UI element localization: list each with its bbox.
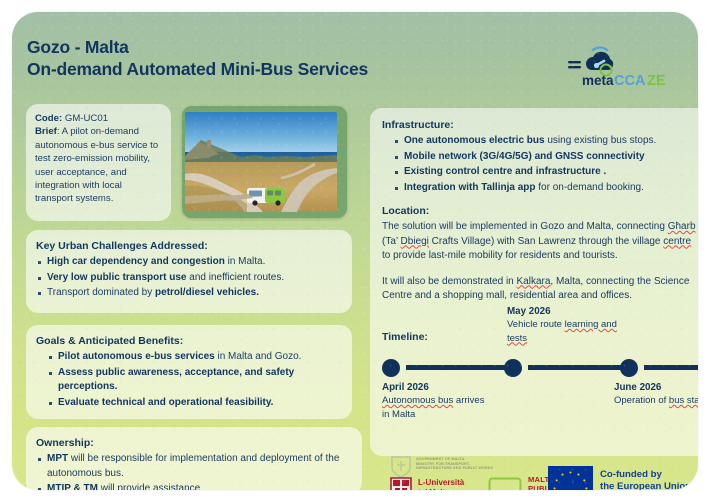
infra-3-bold: Integration with Tallinja app <box>404 182 535 193</box>
poster-canvas: Gozo - Malta On-demand Automated Mini-Bu… <box>0 0 709 502</box>
use-case-card: Gozo - Malta On-demand Automated Mini-Bu… <box>12 12 698 490</box>
goals-title: Goals & Anticipated Benefits: <box>36 334 342 348</box>
brief-label: Brief <box>35 126 57 137</box>
challenges-list: High car dependency and congestion in Ma… <box>36 255 342 301</box>
milestone-2-date: May 2026 <box>507 305 617 319</box>
list-item: Very low public transport use and ineffi… <box>36 271 342 286</box>
title-line-2: On-demand Automated Mini-Bus Services <box>27 58 457 80</box>
location-paragraph-1: The solution will be implemented in Gozo… <box>382 220 698 264</box>
gov-line-3: INFRASTRUCTURE AND PUBLIC WORKS <box>416 466 493 471</box>
university-crest-icon <box>388 476 414 490</box>
owner-0-bold: MPT <box>47 453 68 464</box>
timeline-axis <box>382 359 698 377</box>
brief-text: Code: GM-UC01 Brief: A pilot on-demand a… <box>35 112 162 206</box>
infra-3-rest: for on-demand booking. <box>535 182 643 193</box>
photo-frame <box>182 106 347 218</box>
timeline-label: Timeline: <box>382 331 428 343</box>
milestone-1-desc-mark: Autonomous bus <box>382 395 453 406</box>
eu-funding-text: Co-funded by the European Union <box>600 469 691 490</box>
eu-line-1: Co-funded by <box>600 469 691 481</box>
loc-p1-c: Crafts Village) with San Lawrenz through… <box>429 236 663 247</box>
owner-1-bold: MTIP & TM <box>47 483 98 490</box>
infra-0-rest: using existing bus stops. <box>545 135 657 146</box>
list-item: MPT will be responsible for implementati… <box>36 452 352 481</box>
list-item: Pilot autonomous e-bus services in Malta… <box>36 350 342 365</box>
timeline-dot-1 <box>382 359 400 377</box>
logo-text-cca: CCA <box>614 73 646 88</box>
university-logo-text: L-Università ta’ Malta <box>418 478 464 490</box>
timeline-dot-2 <box>504 359 522 377</box>
challenges-title: Key Urban Challenges Addressed: <box>36 239 342 253</box>
loc-p1-a: The solution will be implemented in Gozo… <box>382 221 668 232</box>
card-header: Gozo - Malta On-demand Automated Mini-Bu… <box>12 12 698 88</box>
title-line-1: Gozo - Malta <box>27 37 129 57</box>
list-item: MTIP & TM will provide assistance. <box>36 482 352 490</box>
loc-p2-mark1: Kalkara <box>517 276 551 287</box>
logo-text-meta: meta <box>582 73 614 88</box>
government-logo-text: GOVERNMENT OF MALTA MINISTRY FOR TRANSPO… <box>416 457 493 471</box>
infra-1-bold: Mobile network (3G/4G/5G) and GNSS conne… <box>404 151 645 162</box>
milestone-1-date: April 2026 <box>382 381 492 395</box>
right-panel: Infrastructure: One autonomous electric … <box>370 108 698 456</box>
code-label: Code: <box>35 113 62 124</box>
loc-p1-d: to provide last-mile mobility for reside… <box>382 250 618 261</box>
timeline-milestone-2: May 2026 Vehicle route learning and test… <box>507 305 617 346</box>
milestone-3-desc-mark: bus starts <box>669 395 698 406</box>
timeline-bar-3 <box>644 365 698 370</box>
infra-2-bold: Existing control centre and infrastructu… <box>404 166 606 177</box>
milestone-3-date: June 2026 <box>614 381 698 395</box>
owner-1-marked: provide assistance <box>117 483 200 490</box>
ownership-list: MPT will be responsible for implementati… <box>36 452 352 490</box>
milestone-2-desc-a: Vehicle route <box>507 319 565 330</box>
bus-icon <box>488 476 522 490</box>
infrastructure-list: One autonomous electric bus using existi… <box>382 134 698 195</box>
loc-p1-mark1: Għarb <box>668 221 696 232</box>
photo-illustration <box>185 112 337 212</box>
eu-line-2: the European Union <box>600 481 691 491</box>
uom-line-2: ta’ Malta <box>418 488 464 490</box>
list-item: One autonomous electric bus using existi… <box>382 134 698 149</box>
footer-logos: GOVERNMENT OF MALTA MINISTRY FOR TRANSPO… <box>370 456 698 490</box>
loc-p2-a: It will also be demonstrated in <box>382 276 517 287</box>
infrastructure-block: Infrastructure: One autonomous electric … <box>382 118 698 195</box>
eu-flag-icon <box>548 466 593 490</box>
eu-funding-logo: Co-funded by the European Union <box>548 466 698 490</box>
list-item: Integration with Tallinja app for on-dem… <box>382 181 698 196</box>
eu-stars <box>548 466 593 490</box>
location-paragraph-2: It will also be demonstrated in Kalkara,… <box>382 275 698 304</box>
brief-panel: Code: GM-UC01 Brief: A pilot on-demand a… <box>26 104 171 221</box>
timeline: Timeline: May 2026 Vehicle route learnin… <box>382 313 698 425</box>
location-title: Location: <box>382 204 698 218</box>
brief-value: : A pilot on-demand autonomous e-bus ser… <box>35 126 158 204</box>
timeline-milestone-3: June 2026 Operation of bus starts <box>614 381 698 408</box>
list-item: Existing control centre and infrastructu… <box>382 165 698 180</box>
goal-0-bold: Pilot autonomous e-bus services <box>58 351 215 362</box>
list-item: Assess public awareness, acceptance, and… <box>36 366 342 395</box>
page-title: Gozo - Malta On-demand Automated Mini-Bu… <box>27 36 457 80</box>
infrastructure-title: Infrastructure: <box>382 118 698 132</box>
challenge-1-rest: and inefficient routes. <box>186 272 284 283</box>
owner-0-rest: will be responsible for implementation a… <box>47 453 339 479</box>
ownership-title: Ownership: <box>36 436 352 450</box>
government-of-malta-logo: GOVERNMENT OF MALTA MINISTRY FOR TRANSPO… <box>388 456 508 478</box>
gozo-bus-photo <box>185 112 337 212</box>
timeline-bar-1 <box>406 365 506 370</box>
challenges-panel: Key Urban Challenges Addressed: High car… <box>26 230 352 313</box>
metaccaze-logo: meta CCA ZE <box>562 40 682 88</box>
bus-graphic <box>247 188 285 206</box>
challenge-0-bold: High car dependency and congestion <box>47 256 225 267</box>
list-item: High car dependency and congestion in Ma… <box>36 255 342 270</box>
timeline-milestone-1: April 2026 Autonomous bus arrives in Mal… <box>382 381 492 422</box>
milestone-3-desc-a: Operation of <box>614 395 669 406</box>
owner-1-tail: . <box>200 483 203 490</box>
location-block: Location: The solution will be implement… <box>382 204 698 304</box>
loc-p1-mark3: centre <box>663 236 691 247</box>
timeline-bar-2 <box>528 365 624 370</box>
metaccaze-logo-svg: meta CCA ZE <box>562 40 682 88</box>
ownership-panel: Ownership: MPT will be responsible for i… <box>26 427 362 490</box>
goals-list: Pilot autonomous e-bus services in Malta… <box>36 350 342 410</box>
infra-0-bold: One autonomous electric bus <box>404 135 545 146</box>
list-item: Evaluate technical and operational feasi… <box>36 396 342 411</box>
challenge-0-rest: in Malta. <box>225 256 266 267</box>
uom-line-1: L-Università <box>418 478 464 488</box>
timeline-dot-3 <box>620 359 638 377</box>
challenge-2-lead: Transport dominated by <box>47 287 155 298</box>
goals-panel: Goals & Anticipated Benefits: Pilot auto… <box>26 325 352 419</box>
university-of-malta-logo: L-Università ta’ Malta <box>388 476 498 490</box>
challenge-1-bold: Very low public transport use <box>47 272 186 283</box>
goal-2-bold: Evaluate technical and operational feasi… <box>58 397 273 408</box>
loc-p1-b: (Ta’ <box>382 236 401 247</box>
goal-1-bold: Assess public awareness, acceptance, and… <box>58 367 294 393</box>
list-item: Transport dominated by petrol/diesel veh… <box>36 286 342 301</box>
challenge-2-bold: petrol/diesel vehicles. <box>155 287 259 298</box>
loc-p1-mark2: Dbiegi <box>401 236 429 247</box>
goal-0-rest: in Malta and Gozo. <box>215 351 302 362</box>
malta-shield-icon <box>388 456 414 478</box>
owner-1-rest: will <box>98 483 117 490</box>
logo-text-ze: ZE <box>647 73 666 88</box>
list-item: Mobile network (3G/4G/5G) and GNSS conne… <box>382 150 698 165</box>
code-value: GM-UC01 <box>62 113 108 124</box>
